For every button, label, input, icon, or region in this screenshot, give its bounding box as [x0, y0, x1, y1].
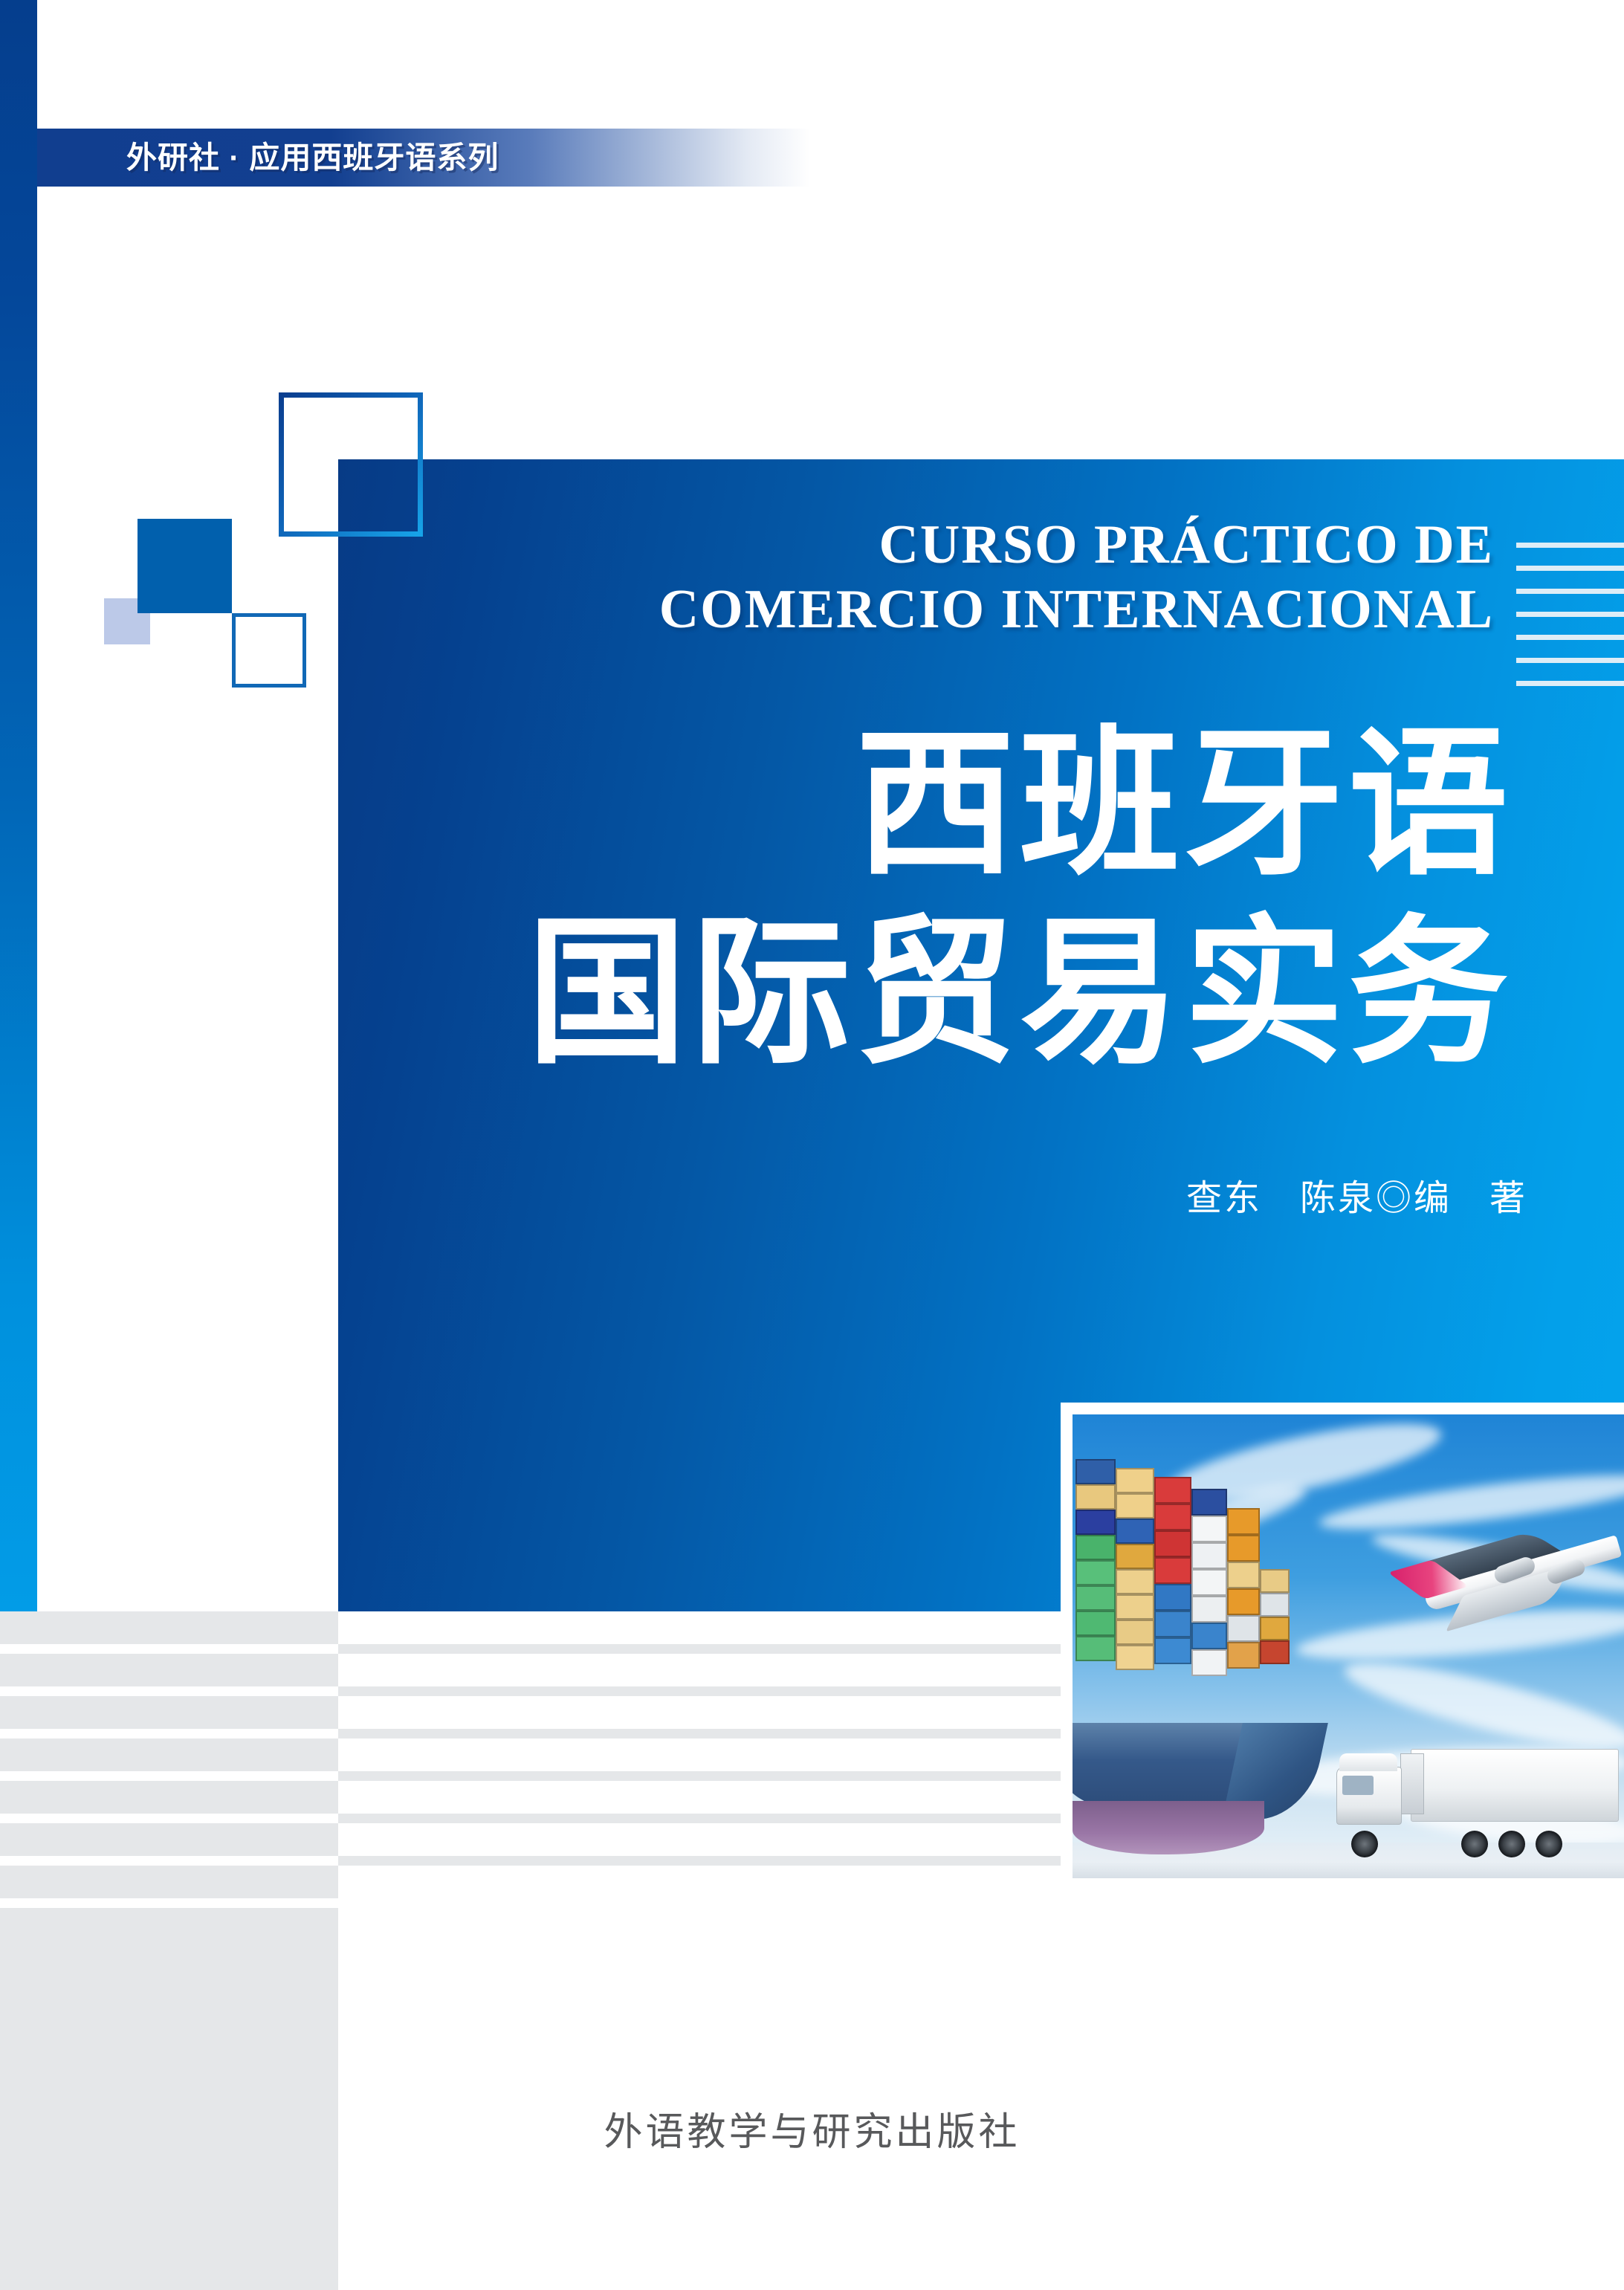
truck-wheel: [1461, 1831, 1488, 1857]
main-title-line-1: 西班牙语: [338, 710, 1513, 899]
spanish-subtitle-line-1: CURSO PRÁCTICO DE: [338, 513, 1494, 578]
rule-line: [1516, 658, 1624, 663]
stripe-bar: [0, 1696, 338, 1729]
truck-wheel: [1536, 1831, 1562, 1857]
cover-photo-frame: [1061, 1403, 1624, 1878]
decorative-rules: [1516, 543, 1624, 704]
truck-wheel: [1498, 1831, 1525, 1857]
rule-line: [1516, 612, 1624, 617]
left-accent-strip: [0, 0, 37, 1611]
stripe-bar: [0, 1823, 338, 1856]
stripe-bar: [0, 1781, 338, 1814]
book-cover: 外研社 · 应用西班牙语系列 CURSO PRÁCTICO DE COMERCI…: [0, 0, 1624, 2290]
stripe-bar: [0, 1611, 338, 1644]
ship-bulb: [1073, 1801, 1264, 1854]
rule-line: [1516, 589, 1624, 594]
logistics-photo: [1073, 1414, 1624, 1878]
container-stack-icon: [1073, 1450, 1272, 1738]
truck-wheel: [1351, 1831, 1378, 1857]
author-line: 查东 陈泉◎编 著: [338, 1168, 1527, 1220]
rule-line: [1516, 681, 1624, 686]
stripe-bar: [0, 1654, 338, 1686]
rule-line: [1516, 635, 1624, 640]
stripe-column-left: [0, 1611, 338, 2290]
spanish-subtitle: CURSO PRÁCTICO DE COMERCIO INTERNACIONAL: [338, 513, 1494, 643]
truck-windshield: [1342, 1776, 1374, 1795]
decorative-square-solid: [138, 519, 232, 613]
truck-refrigeration-unit: [1400, 1753, 1424, 1814]
stripe-bar: [0, 1866, 338, 1898]
stripe-bar: [0, 1738, 338, 1771]
stripe-block: [0, 1908, 338, 2290]
series-banner-label: 外研社 · 应用西班牙语系列: [126, 132, 499, 183]
rule-line: [1516, 543, 1624, 548]
decorative-square-outline-small: [232, 613, 306, 688]
truck-cab-roof: [1339, 1753, 1397, 1771]
truck-icon: [1329, 1741, 1619, 1860]
truck-trailer: [1411, 1749, 1619, 1822]
publisher-name: 外语教学与研究出版社: [0, 2100, 1624, 2156]
main-title-line-2: 国际贸易实务: [338, 899, 1513, 1087]
rule-line: [1516, 566, 1624, 571]
spanish-subtitle-line-2: COMERCIO INTERNACIONAL: [338, 578, 1494, 642]
main-title: 西班牙语 国际贸易实务: [338, 710, 1513, 1087]
